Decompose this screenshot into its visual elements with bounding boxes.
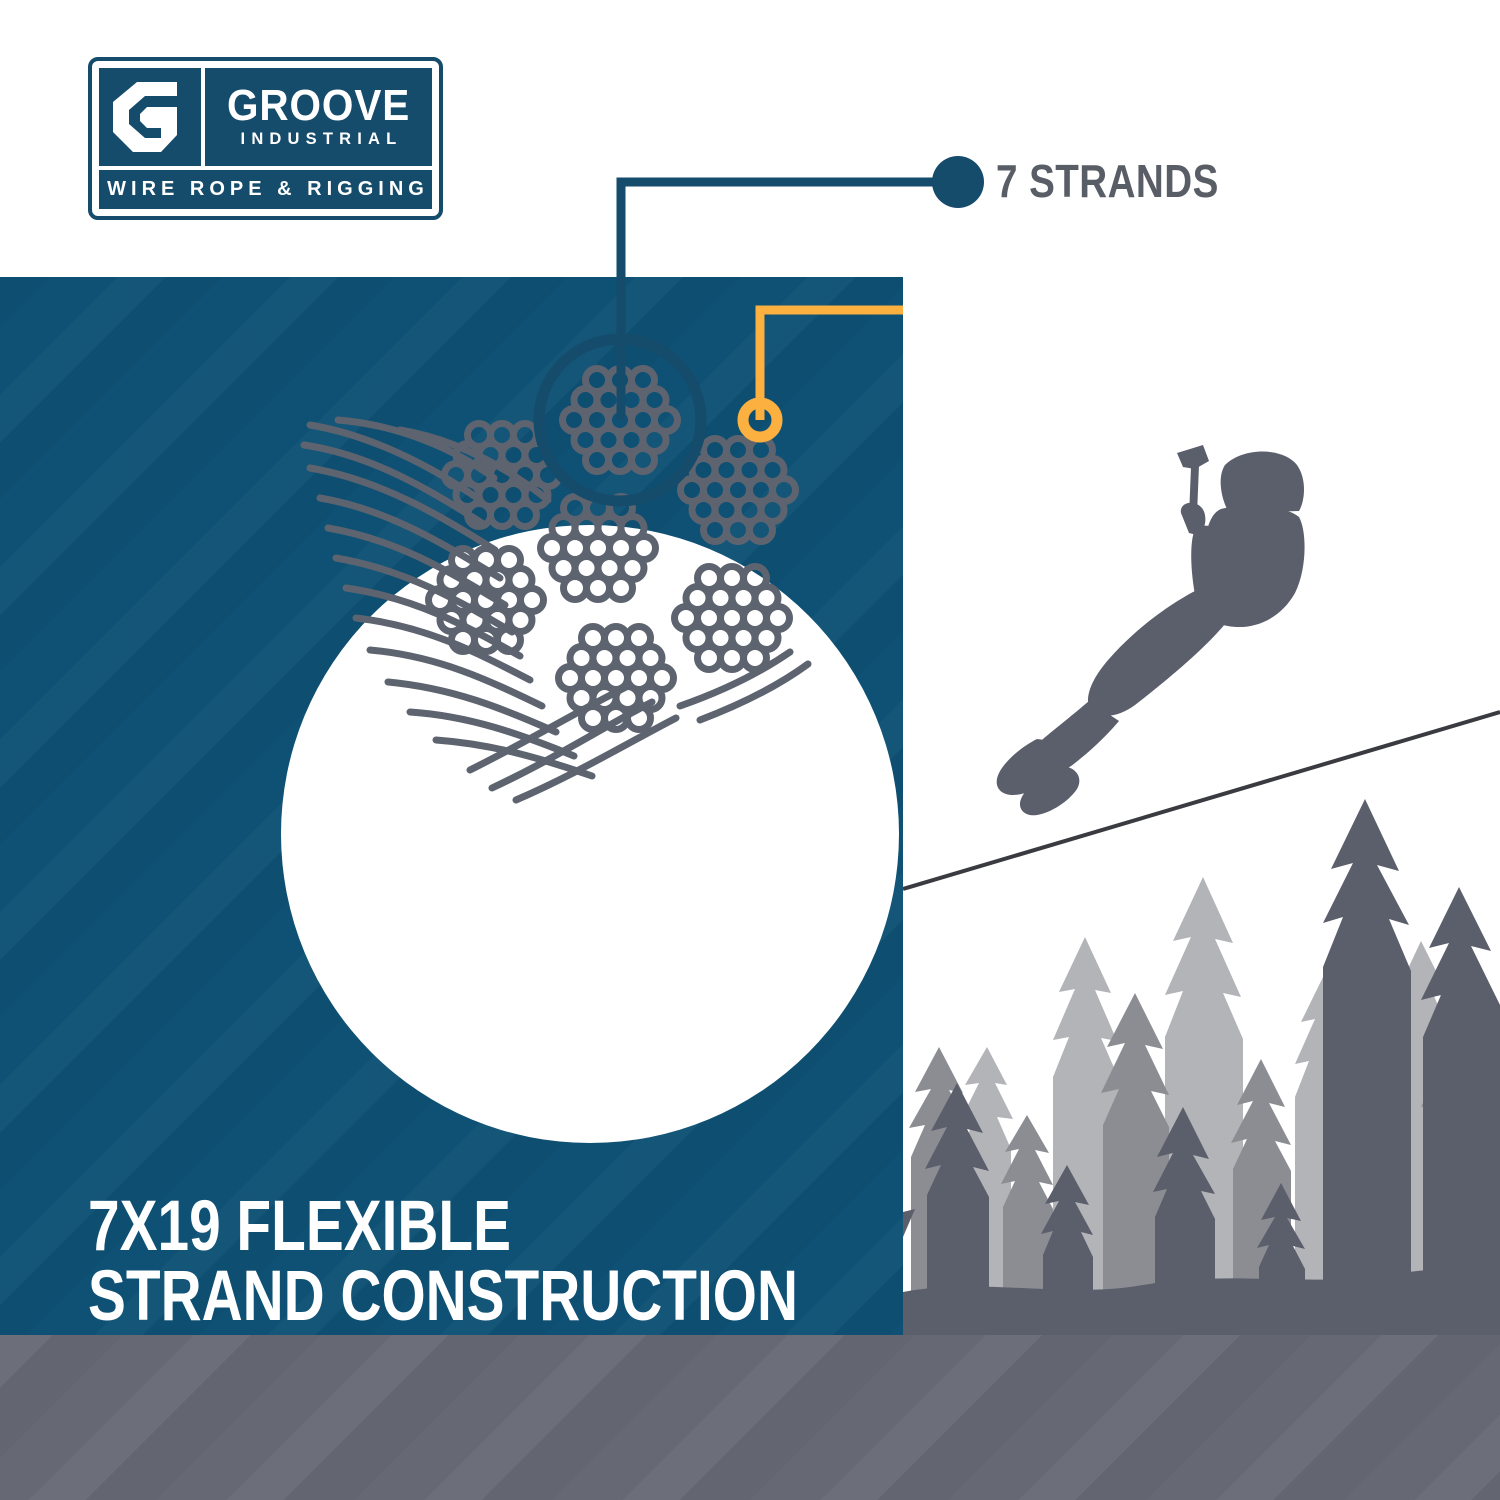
band-stripe-texture	[0, 1335, 1500, 1500]
zipline-photo	[903, 277, 1500, 1335]
zipline-scene	[903, 277, 1500, 1335]
headline-line-2: STRAND CONSTRUCTION	[88, 1262, 704, 1332]
bottom-gray-band	[0, 1335, 1500, 1500]
infographic-canvas: GROOVE INDUSTRIAL WIRE ROPE & RIGGING 7X…	[0, 0, 1500, 1500]
callout-label-strands: 7 STRANDS	[996, 154, 1219, 208]
callout-dot-strands[interactable]	[932, 156, 984, 208]
headline-line-1: 7X19 FLEXIBLE	[88, 1192, 704, 1262]
headline-block: 7X19 FLEXIBLE STRAND CONSTRUCTION Our ai…	[88, 1192, 858, 1335]
headline-wrap: 7X19 FLEXIBLE STRAND CONSTRUCTION	[88, 1192, 858, 1333]
connector-line-navy	[621, 182, 950, 420]
